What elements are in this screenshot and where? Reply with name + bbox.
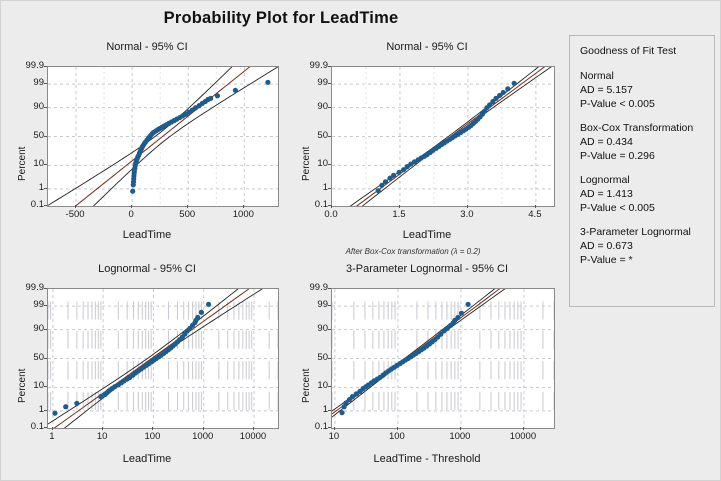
gof-heading: Goodness of Fit Test [580,45,704,57]
panel-boxcox-title: Normal - 95% CI [291,41,563,53]
panel-normal: Normal - 95% CI Percent LeadTime 0.11105… [7,41,287,241]
box-boxcox-svg [332,67,554,206]
data-point [466,302,471,307]
y-tick-mark [328,427,331,428]
panel-boxcox: Normal - 95% CI Percent LeadTime After B… [291,41,563,256]
y-tick-label: 90 [293,101,328,112]
data-point [455,315,460,320]
y-tick-label: 0.1 [9,199,44,210]
x-tick-mark [102,427,103,430]
y-tick-mark [44,386,47,387]
data-point [339,410,344,415]
y-tick-label: 90 [293,323,328,334]
gof-boxcox-ad: AD = 0.434 [580,136,704,148]
x-tick-label: 4.5 [510,209,560,220]
x-tick-mark [399,205,400,208]
panel-lognormal3p-plot-area[interactable] [331,288,555,429]
y-tick-mark [44,427,47,428]
y-tick-label: 90 [9,101,44,112]
gof-normal-name: Normal [580,70,704,82]
x-tick-mark [152,427,153,430]
x-tick-label: 10 [77,431,127,442]
panel-lognormal3p-title: 3-Parameter Lognormal - 95% CI [291,263,563,275]
data-point [195,315,200,320]
x-tick-mark [203,427,204,430]
y-tick-mark [44,164,47,165]
data-point [130,189,135,194]
data-point [396,170,401,175]
y-tick-mark [328,164,331,165]
panel-boxcox-xlabel: LeadTime [291,229,563,241]
y-tick-label: 1 [293,404,328,415]
x-tick-label: 1 [27,431,77,442]
x-tick-mark [334,427,335,430]
x-tick-label: 10000 [498,431,548,442]
data-point [63,404,68,409]
x-tick-mark [397,427,398,430]
data-point [74,401,79,406]
y-tick-mark [44,136,47,137]
y-tick-mark [328,305,331,306]
box-lognormal3p-svg [332,289,554,428]
panel-normal-plot-area[interactable] [47,66,279,207]
gof-lognormal3p-ad: AD = 0.673 [580,240,704,252]
x-tick-label: 10 [309,431,359,442]
y-tick-mark [328,358,331,359]
data-point [233,88,238,93]
gof-group-boxcox: Box-Cox Transformation AD = 0.434 P-Valu… [580,122,704,162]
y-tick-mark [328,83,331,84]
y-tick-label: 99.9 [293,60,328,71]
y-tick-label: 50 [9,130,44,141]
y-tick-mark [44,107,47,108]
y-tick-label: 99.9 [293,282,328,293]
data-point [512,81,517,86]
panel-boxcox-plot-area[interactable] [331,66,555,207]
y-tick-mark [44,329,47,330]
y-tick-mark [328,188,331,189]
x-tick-label: 0.0 [306,209,356,220]
panel-lognormal3p: 3-Parameter Lognormal - 95% CI Percent L… [291,263,563,473]
data-point [215,93,220,98]
y-tick-mark [44,305,47,306]
y-tick-label: 99 [9,299,44,310]
panel-lognormal3p-xlabel: LeadTime - Threshold [291,453,563,465]
y-tick-mark [328,136,331,137]
page-title: Probability Plot for LeadTime [1,9,561,28]
box-normal-svg [48,67,278,206]
x-tick-mark [523,427,524,430]
x-tick-mark [187,205,188,208]
y-tick-label: 10 [9,158,44,169]
x-tick-mark [331,205,332,208]
gof-group-lognormal3p: 3-Parameter Lognormal AD = 0.673 P-Value… [580,226,704,266]
x-tick-mark [52,427,53,430]
data-point [208,96,213,101]
panel-lognormal: Lognormal - 95% CI Percent LeadTime 0.11… [7,263,287,473]
y-tick-label: 10 [293,158,328,169]
x-tick-label: 1.5 [374,209,424,220]
data-point [265,80,270,85]
y-tick-label: 50 [293,352,328,363]
x-tick-label: 100 [372,431,422,442]
gof-lognormal3p-name: 3-Parameter Lognormal [580,226,704,238]
gof-boxcox-pvalue: P-Value = 0.296 [580,150,704,162]
data-point [199,310,204,315]
y-tick-label: 50 [293,130,328,141]
x-tick-label: 100 [127,431,177,442]
x-tick-mark [253,427,254,430]
y-tick-mark [328,329,331,330]
gof-group-normal: Normal AD = 5.157 P-Value < 0.005 [580,70,704,110]
gof-lognormal-pvalue: P-Value < 0.005 [580,202,704,214]
x-tick-label: -500 [50,209,100,220]
y-tick-label: 99 [293,299,328,310]
data-point [505,86,510,91]
panel-lognormal-plot-area[interactable] [47,288,279,429]
gof-boxcox-name: Box-Cox Transformation [580,122,704,134]
goodness-of-fit-panel: Goodness of Fit Test Normal AD = 5.157 P… [569,35,715,307]
y-tick-label: 10 [293,380,328,391]
x-tick-label: 10000 [228,431,278,442]
y-tick-mark [44,410,47,411]
y-tick-mark [328,386,331,387]
panel-boxcox-caption: After Box-Cox transformation (λ = 0.2) [277,247,549,256]
x-tick-mark [243,205,244,208]
y-tick-label: 1 [9,404,44,415]
x-tick-label: 1000 [435,431,485,442]
x-tick-label: 500 [162,209,212,220]
y-tick-mark [328,66,331,67]
data-point [383,179,388,184]
y-tick-mark [44,358,47,359]
y-tick-mark [328,107,331,108]
x-tick-mark [75,205,76,208]
data-point [206,302,211,307]
gof-lognormal3p-pvalue: P-Value = * [580,254,704,266]
x-tick-mark [467,205,468,208]
x-tick-label: 3.0 [442,209,492,220]
y-tick-label: 1 [293,182,328,193]
data-point [501,90,506,95]
y-tick-label: 1 [9,182,44,193]
x-tick-label: 1000 [218,209,268,220]
gof-group-lognormal: Lognormal AD = 1.413 P-Value < 0.005 [580,174,704,214]
data-point [391,173,396,178]
y-tick-label: 90 [9,323,44,334]
x-tick-label: 0 [106,209,156,220]
y-tick-mark [44,205,47,206]
y-tick-mark [44,288,47,289]
y-tick-label: 50 [9,352,44,363]
panel-lognormal-xlabel: LeadTime [7,453,287,465]
data-point [376,188,381,193]
gof-normal-ad: AD = 5.157 [580,84,704,96]
x-tick-mark [535,205,536,208]
x-tick-mark [460,427,461,430]
y-tick-label: 10 [9,380,44,391]
box-lognormal-svg [48,289,278,428]
panel-lognormal-title: Lognormal - 95% CI [7,263,287,275]
data-point [52,411,57,416]
gof-lognormal-name: Lognormal [580,174,704,186]
y-tick-mark [44,66,47,67]
y-tick-mark [44,188,47,189]
panel-normal-xlabel: LeadTime [7,229,287,241]
y-tick-mark [328,288,331,289]
panel-normal-title: Normal - 95% CI [7,41,287,53]
x-tick-label: 1000 [178,431,228,442]
x-tick-mark [131,205,132,208]
y-tick-label: 99 [293,77,328,88]
gof-lognormal-ad: AD = 1.413 [580,188,704,200]
probability-plot-canvas: Probability Plot for LeadTime Normal - 9… [0,0,721,481]
data-point [459,311,464,316]
y-tick-mark [328,410,331,411]
y-tick-label: 99 [9,77,44,88]
y-tick-label: 99.9 [9,282,44,293]
y-tick-mark [44,83,47,84]
gof-normal-pvalue: P-Value < 0.005 [580,98,704,110]
y-tick-label: 99.9 [9,60,44,71]
